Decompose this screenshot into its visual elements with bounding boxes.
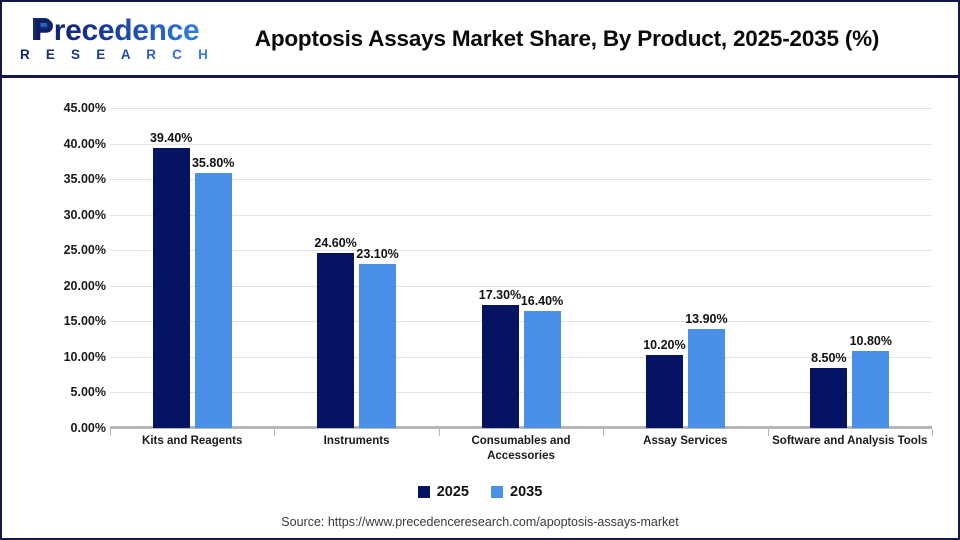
- bar-2035-2: [359, 264, 396, 428]
- bar-value-label: 10.20%: [643, 338, 685, 352]
- legend-swatch-icon: [418, 486, 430, 498]
- bar-value-label: 24.60%: [314, 236, 356, 250]
- bar-value-label: 13.90%: [685, 312, 727, 326]
- y-axis-tick-label: 25.00%: [30, 243, 106, 257]
- y-axis-tick-label: 40.00%: [30, 137, 106, 151]
- chart-legend: 20252035: [2, 484, 958, 500]
- bar-2025-2: [317, 253, 354, 428]
- bar-value-label: 23.10%: [356, 247, 398, 261]
- x-axis-tick: [768, 429, 769, 436]
- logo-wordmark: Precedence: [34, 14, 199, 48]
- source-note: Source: https://www.precedenceresearch.c…: [2, 515, 958, 529]
- y-axis-tick-label: 20.00%: [30, 279, 106, 293]
- legend-label: 2035: [510, 484, 542, 500]
- bar-value-label: 39.40%: [150, 131, 192, 145]
- x-axis-category-label: Instruments: [274, 434, 438, 449]
- x-axis-tick: [274, 429, 275, 436]
- bar-2025-1: [153, 148, 190, 428]
- x-axis-tick: [439, 429, 440, 436]
- bar-2025-5: [810, 368, 847, 428]
- precedence-research-logo: Precedence R E S E A R C H: [20, 14, 170, 66]
- bar-series-layer: 39.40%35.80%24.60%23.10%17.30%16.40%10.2…: [110, 108, 932, 428]
- bar-2035-5: [852, 351, 889, 428]
- x-axis-category-label: Assay Services: [603, 434, 767, 449]
- y-axis-tick-label: 45.00%: [30, 101, 106, 115]
- bar-value-label: 10.80%: [850, 334, 892, 348]
- chart-page: Precedence R E S E A R C H Apoptosis Ass…: [0, 0, 960, 540]
- x-axis-category-label: Consumables and Accessories: [439, 434, 603, 464]
- legend-swatch-icon: [491, 486, 503, 498]
- y-axis-tick-label: 0.00%: [30, 421, 106, 435]
- y-axis-labels: 0.00%5.00%10.00%15.00%20.00%25.00%30.00%…: [30, 108, 106, 428]
- bar-2035-3: [524, 311, 561, 428]
- x-axis-category-label: Kits and Reagents: [110, 434, 274, 449]
- chart-header: Precedence R E S E A R C H Apoptosis Ass…: [2, 2, 958, 78]
- bar-value-label: 35.80%: [192, 156, 234, 170]
- y-axis-tick-label: 5.00%: [30, 385, 106, 399]
- x-axis-category-labels: Kits and ReagentsInstrumentsConsumables …: [110, 434, 932, 478]
- x-axis-tick: [603, 429, 604, 436]
- bar-value-label: 8.50%: [811, 351, 846, 365]
- legend-label: 2025: [437, 484, 469, 500]
- bar-2025-4: [646, 355, 683, 428]
- y-axis-tick-label: 15.00%: [30, 314, 106, 328]
- page-title: Apoptosis Assays Market Share, By Produc…: [182, 2, 952, 75]
- y-axis-tick-label: 30.00%: [30, 208, 106, 222]
- bar-2035-4: [688, 329, 725, 428]
- x-axis-tick: [110, 429, 111, 436]
- bar-value-label: 17.30%: [479, 288, 521, 302]
- legend-item-2025[interactable]: 2025: [418, 484, 469, 500]
- bar-2025-3: [482, 305, 519, 428]
- bar-value-label: 16.40%: [521, 294, 563, 308]
- x-axis-category-label: Software and Analysis Tools: [768, 434, 932, 449]
- chart-plot-area: 0.00%5.00%10.00%15.00%20.00%25.00%30.00%…: [2, 78, 958, 538]
- y-axis-tick-label: 35.00%: [30, 172, 106, 186]
- x-axis-tick: [932, 429, 933, 436]
- y-axis-tick-label: 10.00%: [30, 350, 106, 364]
- bar-2035-1: [195, 173, 232, 428]
- legend-item-2035[interactable]: 2035: [491, 484, 542, 500]
